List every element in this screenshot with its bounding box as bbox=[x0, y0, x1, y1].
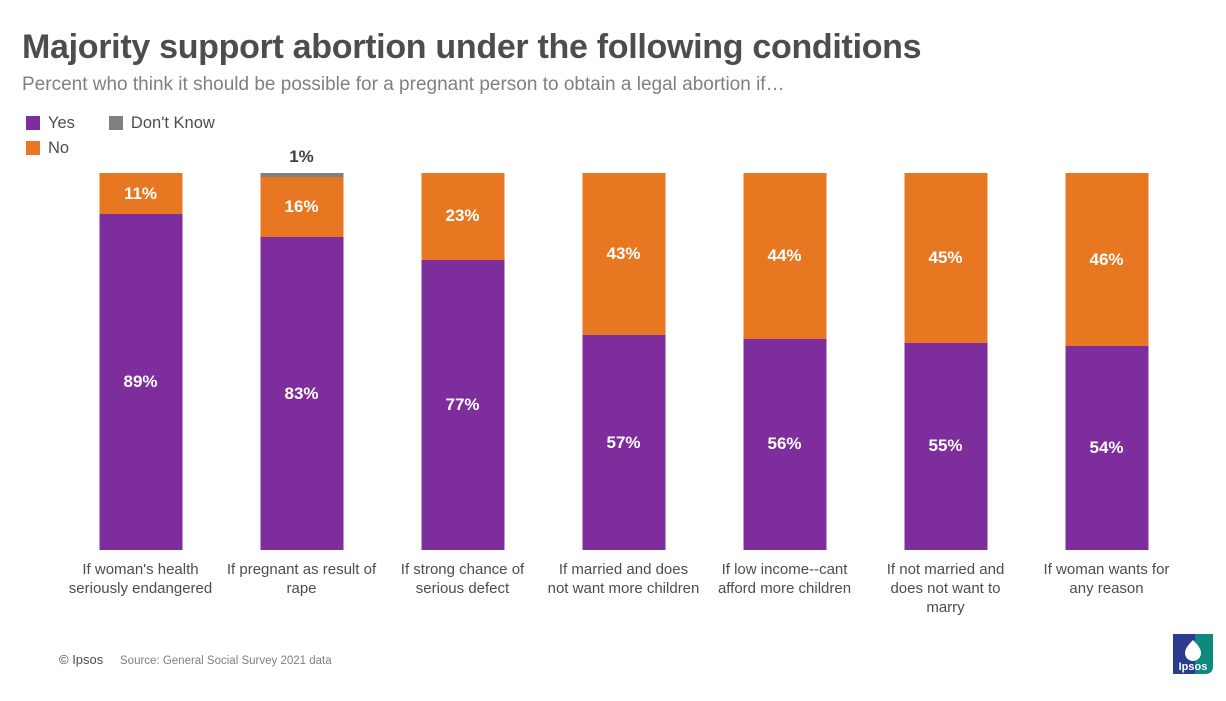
category-label: If strong chance ofserious defect bbox=[382, 560, 543, 598]
bar-segment-no[interactable]: 23% bbox=[421, 173, 504, 260]
stacked-bar[interactable]: 11%89% bbox=[99, 173, 182, 550]
segment-value-label: 16% bbox=[284, 197, 318, 217]
stacked-bar[interactable]: 44%56% bbox=[743, 173, 826, 550]
segment-value-label: 46% bbox=[1089, 250, 1123, 270]
segment-value-label: 57% bbox=[606, 433, 640, 453]
category-label-line: If married and does bbox=[543, 560, 704, 579]
bar-column[interactable]: 23%77% bbox=[382, 150, 543, 550]
legend-swatch-yes bbox=[26, 116, 40, 130]
bar-segment-no[interactable]: 45% bbox=[904, 173, 987, 343]
chart-plot-area: 11%89%1%16%83%23%77%43%57%44%56%45%55%46… bbox=[10, 150, 1210, 550]
legend-row: YesDon't Know bbox=[26, 110, 626, 135]
category-label-line: If low income--cant bbox=[704, 560, 865, 579]
legend-label: Yes bbox=[48, 113, 75, 133]
segment-value-label: 44% bbox=[767, 246, 801, 266]
segment-value-label: 43% bbox=[606, 244, 640, 264]
ipsos-logo-mark: Ipsos bbox=[1169, 630, 1217, 678]
category-label-line: rape bbox=[221, 579, 382, 598]
category-label: If woman's healthseriously endangered bbox=[60, 560, 221, 598]
bar-segment-yes[interactable]: 54% bbox=[1065, 346, 1148, 550]
segment-value-label: 89% bbox=[123, 372, 157, 392]
bar-column[interactable]: 1%16%83% bbox=[221, 150, 382, 550]
stacked-bar[interactable]: 45%55% bbox=[904, 173, 987, 550]
category-label: If low income--cantafford more children bbox=[704, 560, 865, 598]
segment-value-label: 54% bbox=[1089, 438, 1123, 458]
page-subtitle: Percent who think it should be possible … bbox=[22, 72, 1182, 98]
legend-swatch-dont-know bbox=[109, 116, 123, 130]
bar-segment-yes[interactable]: 77% bbox=[421, 260, 504, 550]
category-label-line: If pregnant as result of bbox=[221, 560, 382, 579]
source-note: Source: General Social Survey 2021 data bbox=[120, 655, 332, 667]
bar-segment-no[interactable]: 44% bbox=[743, 173, 826, 339]
category-label: If pregnant as result ofrape bbox=[221, 560, 382, 598]
category-label-line: does not want to bbox=[865, 579, 1026, 598]
category-label-line: If woman's health bbox=[60, 560, 221, 579]
segment-value-label: 45% bbox=[928, 248, 962, 268]
legend-item-don-t-know[interactable]: Don't Know bbox=[109, 110, 215, 135]
bar-segment-no[interactable]: 46% bbox=[1065, 173, 1148, 346]
category-axis-labels: If woman's healthseriously endangeredIf … bbox=[10, 560, 1210, 630]
bar-column[interactable]: 45%55% bbox=[865, 150, 1026, 550]
category-label-line: If not married and bbox=[865, 560, 1026, 579]
category-label: If not married anddoes not want tomarry bbox=[865, 560, 1026, 617]
segment-value-label: 11% bbox=[124, 184, 157, 204]
category-label-line: afford more children bbox=[704, 579, 865, 598]
bar-segment-yes[interactable]: 89% bbox=[99, 214, 182, 550]
stacked-bar[interactable]: 23%77% bbox=[421, 173, 504, 550]
category-label-line: not want more children bbox=[543, 579, 704, 598]
segment-value-label: 55% bbox=[928, 436, 962, 456]
chart-page: Majority support abortion under the foll… bbox=[0, 0, 1226, 701]
category-label: If married and doesnot want more childre… bbox=[543, 560, 704, 598]
page-title: Majority support abortion under the foll… bbox=[22, 27, 1182, 67]
category-label: If woman wants forany reason bbox=[1026, 560, 1187, 598]
bar-segment-no[interactable]: 16% bbox=[260, 177, 343, 237]
legend-item-yes[interactable]: Yes bbox=[26, 110, 75, 135]
bar-column[interactable]: 43%57% bbox=[543, 150, 704, 550]
bar-segment-yes[interactable]: 55% bbox=[904, 343, 987, 550]
bar-segment-yes[interactable]: 83% bbox=[260, 237, 343, 550]
bar-segment-no[interactable]: 11% bbox=[99, 173, 182, 214]
category-label-line: marry bbox=[865, 598, 1026, 617]
segment-value-label-outside: 1% bbox=[289, 147, 314, 167]
bar-column[interactable]: 46%54% bbox=[1026, 150, 1187, 550]
ipsos-logo-text: Ipsos bbox=[1179, 661, 1208, 673]
category-label-line: serious defect bbox=[382, 579, 543, 598]
segment-value-label: 83% bbox=[284, 384, 318, 404]
bar-segment-yes[interactable]: 56% bbox=[743, 339, 826, 550]
stacked-bar[interactable]: 46%54% bbox=[1065, 173, 1148, 550]
bar-segment-yes[interactable]: 57% bbox=[582, 335, 665, 550]
segment-value-label: 23% bbox=[445, 206, 479, 226]
legend-label: Don't Know bbox=[131, 113, 215, 133]
segment-value-label: 77% bbox=[445, 395, 479, 415]
stacked-bar[interactable]: 43%57% bbox=[582, 173, 665, 550]
category-label-line: If strong chance of bbox=[382, 560, 543, 579]
ipsos-logo: Ipsos bbox=[1169, 630, 1217, 678]
stacked-bar[interactable]: 1%16%83% bbox=[260, 173, 343, 550]
bar-segment-no[interactable]: 43% bbox=[582, 173, 665, 335]
category-label-line: seriously endangered bbox=[60, 579, 221, 598]
segment-value-label: 56% bbox=[767, 434, 801, 454]
bar-column[interactable]: 44%56% bbox=[704, 150, 865, 550]
category-label-line: If woman wants for bbox=[1026, 560, 1187, 579]
category-label-line: any reason bbox=[1026, 579, 1187, 598]
copyright-text: © Ipsos bbox=[59, 652, 103, 667]
bar-column[interactable]: 11%89% bbox=[60, 150, 221, 550]
